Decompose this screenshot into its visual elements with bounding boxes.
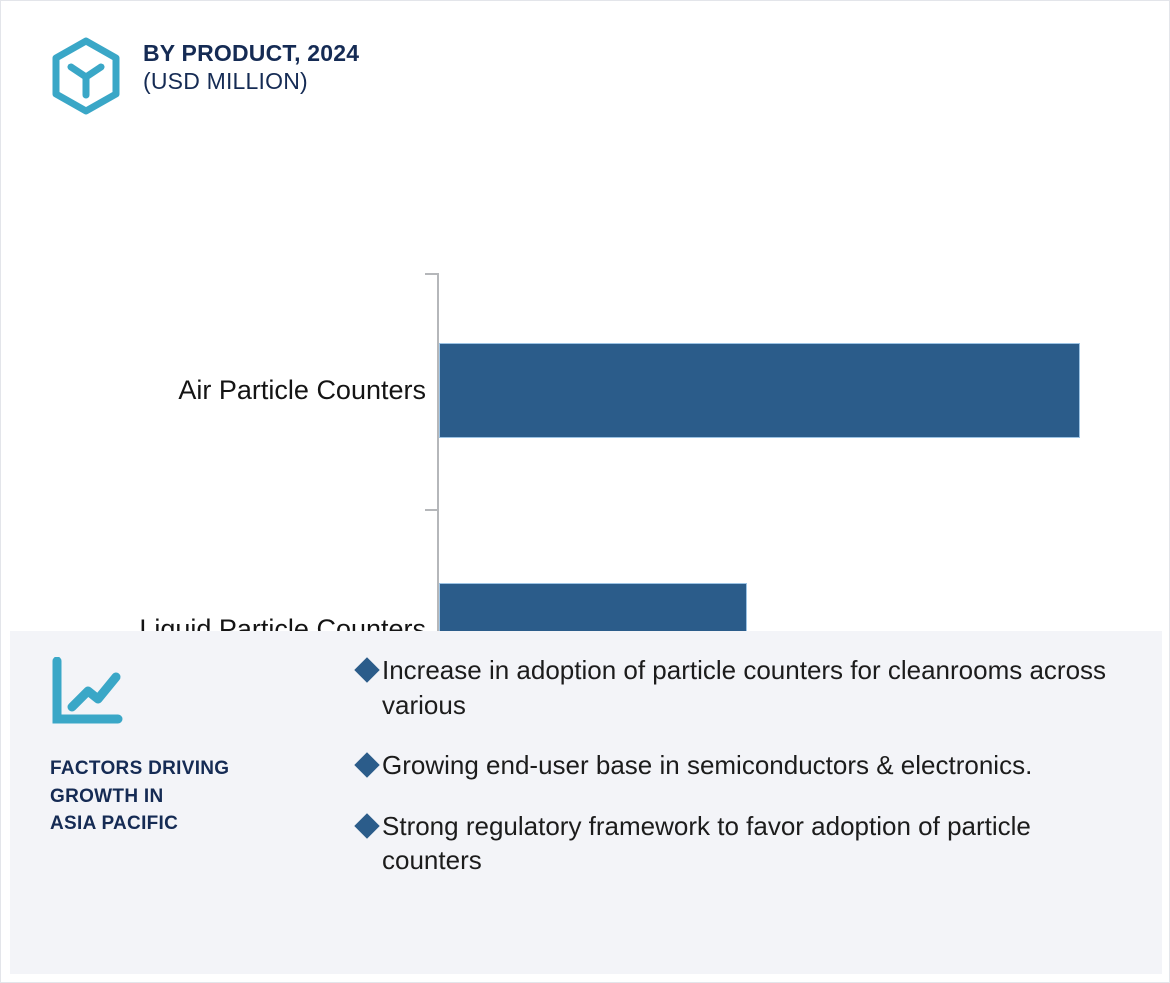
factor-text: Increase in adoption of particle counter… [382,653,1122,722]
diamond-bullet-icon [354,657,379,682]
diamond-bullet-icon [354,752,379,777]
line-chart-icon [50,657,124,729]
page-subtitle: (USD MILLION) [143,67,359,95]
factor-text: Growing end-user base in semiconductors … [382,748,1032,783]
list-item: Growing end-user base in semiconductors … [358,748,1148,783]
factor-text: Strong regulatory framework to favor ado… [382,809,1122,878]
bar-chart: Air Particle Counters Liquid Particle Co… [1,131,1170,631]
category-label-air-particle-counters: Air Particle Counters [26,377,426,404]
factors-panel: FACTORS DRIVING GROWTH IN ASIA PACIFIC I… [10,631,1162,974]
diamond-bullet-icon [354,813,379,838]
chart-header: BY PRODUCT, 2024 (USD MILLION) [49,35,359,115]
infographic-card: BY PRODUCT, 2024 (USD MILLION) Air Parti… [0,0,1170,983]
list-item: Strong regulatory framework to favor ado… [358,809,1148,878]
page-title: BY PRODUCT, 2024 [143,39,359,67]
list-item: Increase in adoption of particle counter… [358,653,1148,722]
title-block: BY PRODUCT, 2024 (USD MILLION) [143,35,359,95]
factors-list: Increase in adoption of particle counter… [358,653,1148,878]
hexagon-y-icon [49,37,123,115]
factors-heading-line-2: GROWTH IN [50,783,350,811]
factors-heading-line-3: ASIA PACIFIC [50,810,350,838]
axis-tick-middle [425,509,438,511]
factors-heading-line-1: FACTORS DRIVING [50,755,350,783]
factors-heading: FACTORS DRIVING GROWTH IN ASIA PACIFIC [50,755,350,838]
factors-heading-block: FACTORS DRIVING GROWTH IN ASIA PACIFIC [50,657,350,838]
axis-tick-top [425,273,438,275]
bar-air-particle-counters [439,343,1080,438]
